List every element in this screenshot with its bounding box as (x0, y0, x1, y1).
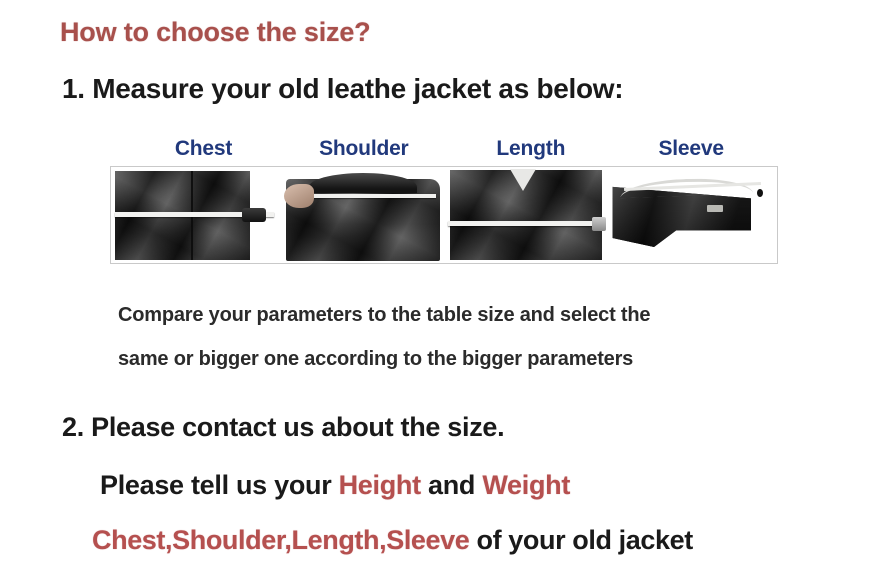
jacket-collar (309, 173, 416, 193)
tell-us-height-weight-line: Please tell us your Height and Weight (100, 470, 570, 501)
label-length: Length (496, 137, 565, 161)
page-title: How to choose the size? (60, 17, 370, 48)
tape-measure-case (592, 217, 606, 231)
compare-instructions-line-2: same or bigger one according to the bigg… (118, 337, 818, 381)
measurement-labels: Chest Shoulder Length Sleeve (110, 137, 778, 165)
measuring-tape-line (448, 221, 603, 226)
sleeve-cuff-button (757, 189, 763, 197)
chest-photo (111, 167, 284, 263)
height-keyword: Height (339, 470, 421, 500)
step-2-instruction: 2. Please contact us about the size. (62, 412, 504, 443)
step-1-instruction: 1. Measure your old leathe jacket as bel… (62, 73, 623, 105)
weight-keyword: Weight (482, 470, 570, 500)
length-photo (444, 167, 611, 263)
tape-measure-case (242, 208, 266, 222)
label-sleeve: Sleeve (658, 137, 723, 161)
tell-us-conjunction: and (421, 470, 483, 500)
jacket-neck-opening (510, 169, 536, 191)
sleeve-photo (610, 167, 777, 263)
shoulder-photo (284, 167, 444, 263)
label-shoulder: Shoulder (319, 137, 408, 161)
label-chest: Chest (175, 137, 232, 161)
of-your-old-jacket-text: of your old jacket (469, 525, 692, 555)
tell-us-prefix: Please tell us your (100, 470, 339, 500)
compare-instructions: Compare your parameters to the table siz… (118, 293, 818, 381)
jacket-brand-tag (707, 205, 723, 212)
compare-instructions-line-1: Compare your parameters to the table siz… (118, 293, 818, 337)
hand-holding-tape (284, 184, 314, 208)
size-guide-page: How to choose the size? 1. Measure your … (0, 0, 872, 586)
measurement-photo-strip (110, 166, 778, 264)
measurement-keywords: Chest,Shoulder,Length,Sleeve (92, 525, 469, 555)
measurements-keywords-line: Chest,Shoulder,Length,Sleeve of your old… (92, 525, 693, 556)
